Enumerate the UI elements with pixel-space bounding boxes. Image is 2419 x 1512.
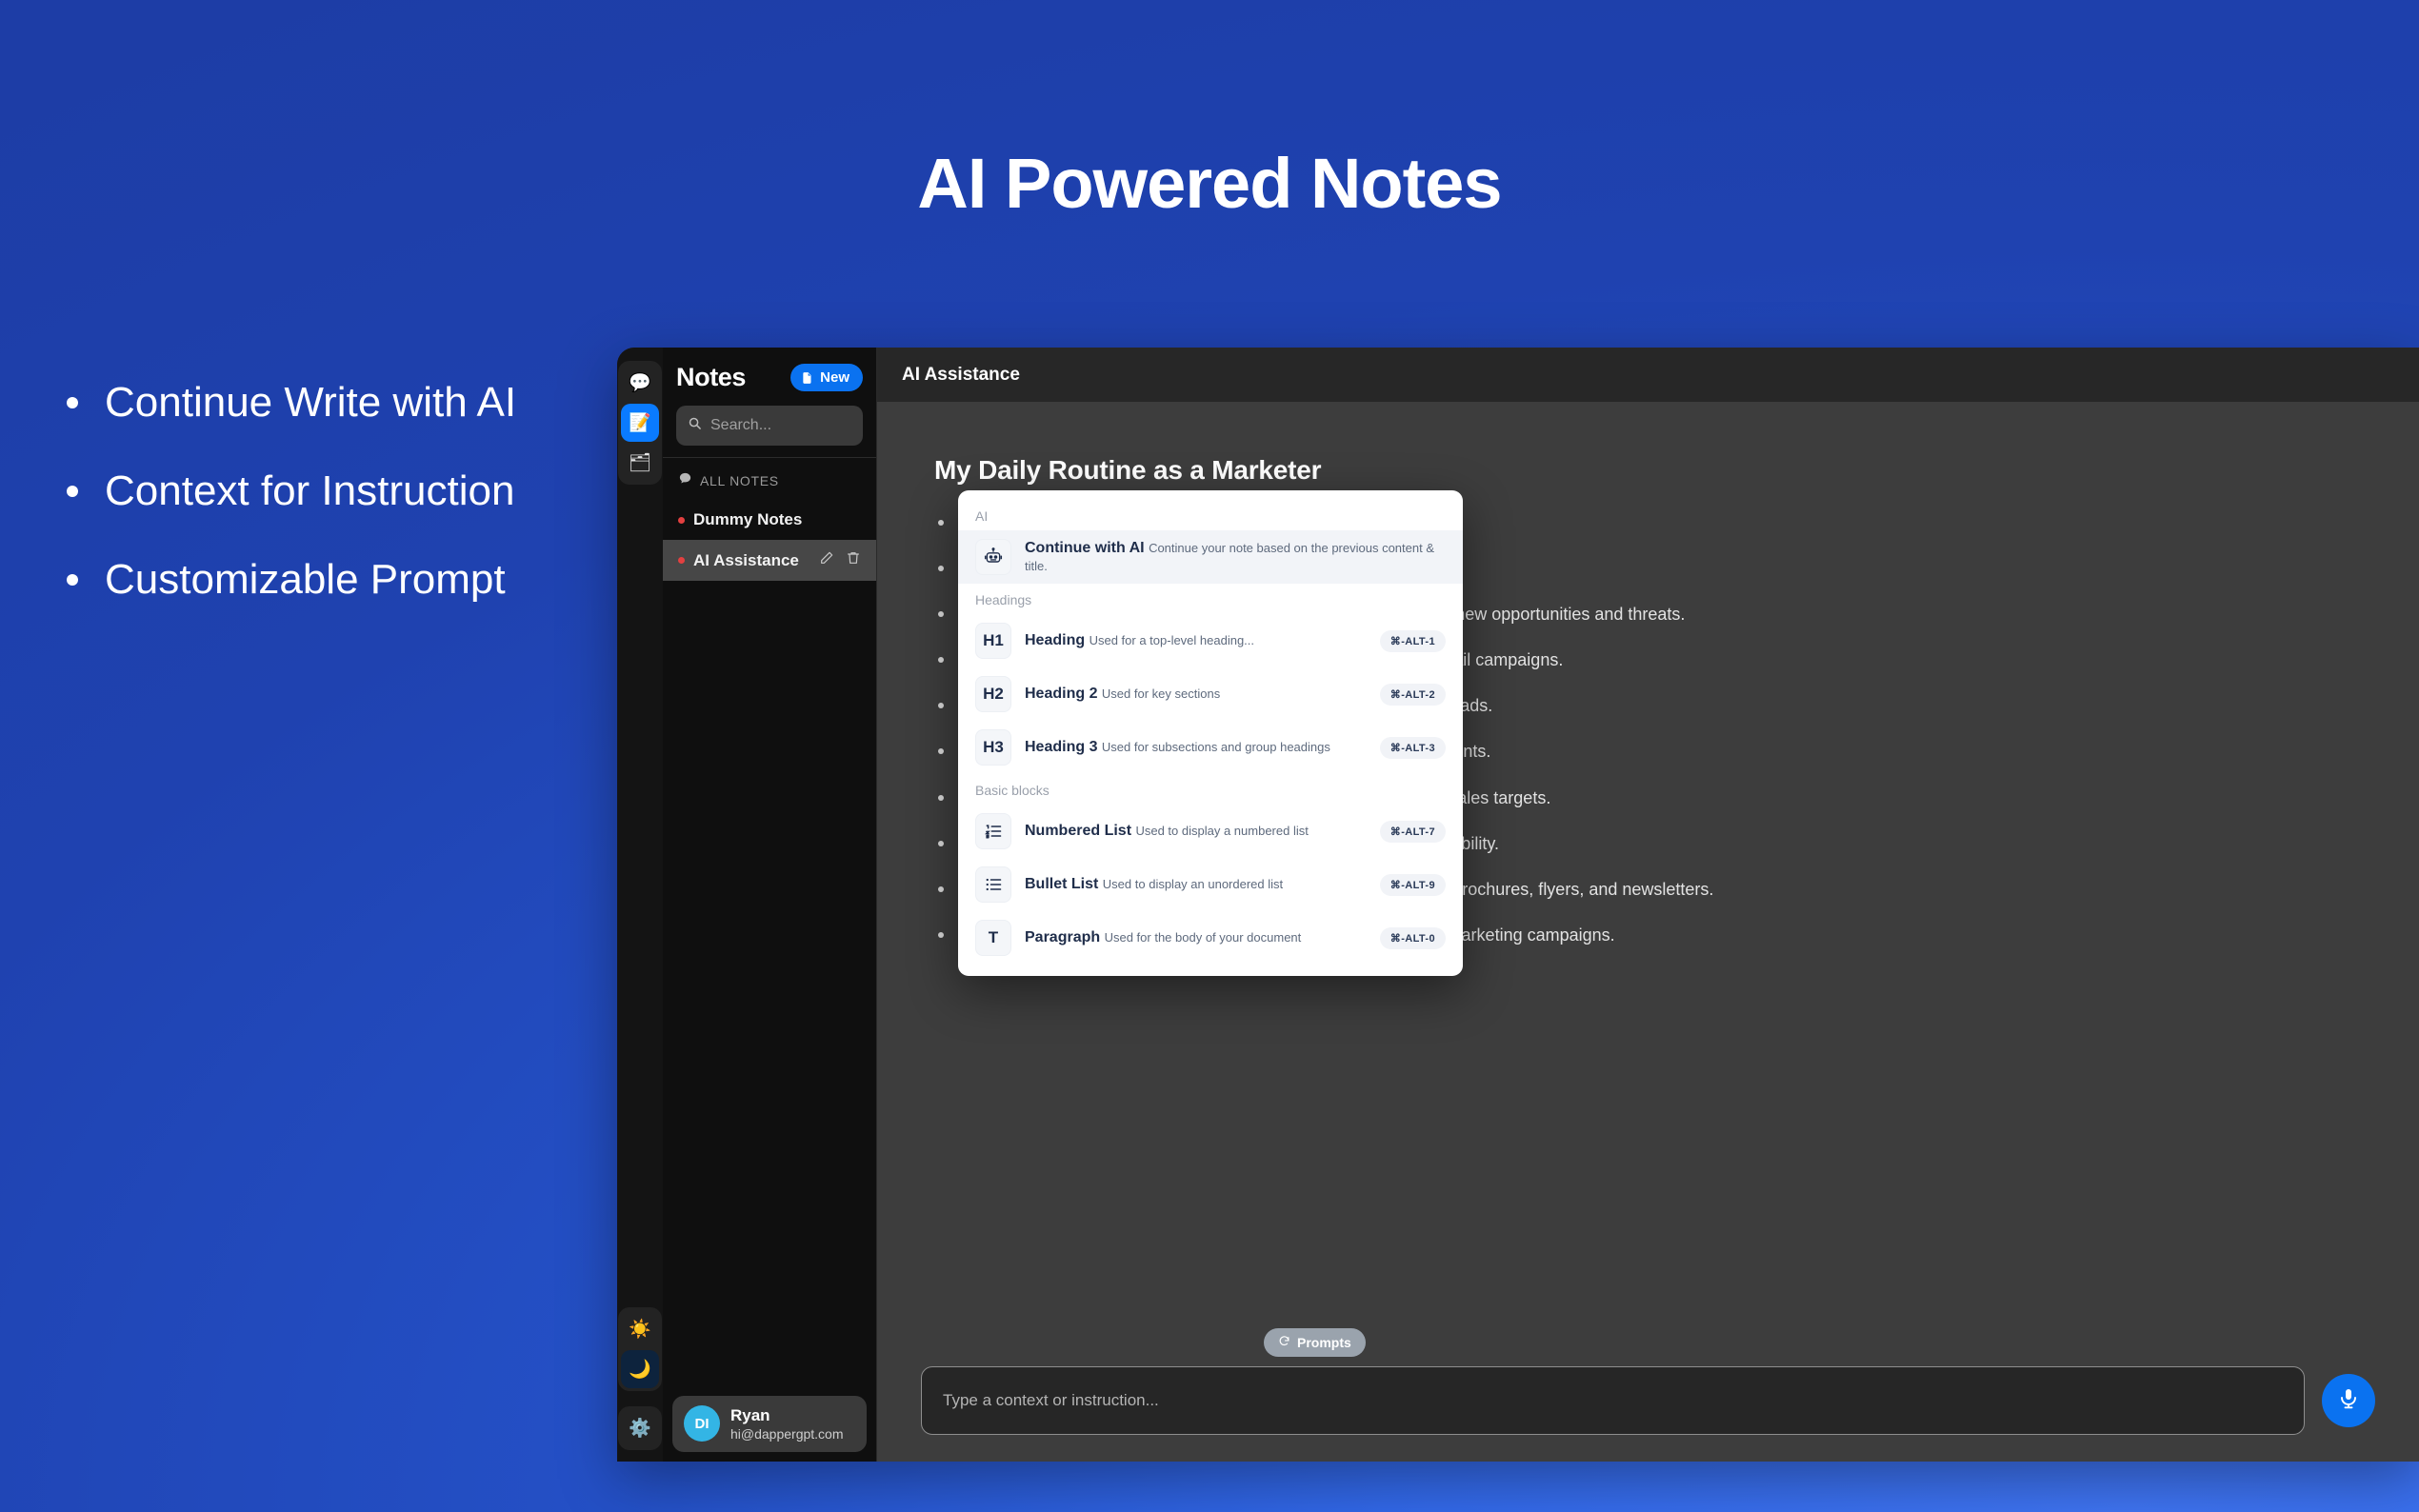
chat-icon[interactable]: 💬 [621, 364, 659, 402]
menu-item-text: Numbered List Used to display a numbered… [1025, 822, 1367, 841]
search-input[interactable] [710, 417, 851, 434]
menu-item-title: Heading 3 [1025, 739, 1097, 755]
menu-item-description: Used to display an unordered list [1103, 877, 1283, 891]
menu-item-text: Heading 2 Used for key sections [1025, 685, 1367, 704]
prompt-row [921, 1366, 2375, 1435]
menu-item-title: Bullet List [1025, 876, 1098, 892]
editor-body[interactable]: My Daily Routine as a Marketer Analyzing… [877, 402, 2419, 1328]
feature-item: Continue Write with AI [50, 371, 583, 435]
microphone-icon [2337, 1387, 2360, 1415]
new-note-button[interactable]: New [790, 364, 863, 391]
notes-panel-title: Notes [676, 363, 746, 392]
prompts-label: Prompts [1297, 1335, 1351, 1350]
note-title: AI Assistance [693, 551, 810, 570]
note-title: Dummy Notes [693, 510, 861, 529]
dark-theme-icon[interactable]: 🌙 [621, 1350, 659, 1388]
settings-icon[interactable]: ⚙️ [621, 1409, 659, 1447]
menu-item-shortcut: ⌘-ALT-2 [1380, 684, 1446, 706]
menu-section-label-basic-blocks: Basic blocks [958, 774, 1463, 805]
note-list-item-dummy-notes[interactable]: Dummy Notes [663, 500, 876, 540]
notes-header-row: Notes New [676, 363, 863, 392]
editor-header-title: AI Assistance [902, 365, 1020, 386]
menu-item-description: Used for key sections [1102, 686, 1220, 701]
edit-icon[interactable] [819, 550, 834, 570]
numbered-list-icon [975, 813, 1011, 849]
search-icon [688, 416, 702, 435]
new-note-label: New [820, 369, 850, 386]
note-status-dot [678, 557, 685, 564]
feature-item: Customizable Prompt [50, 548, 583, 612]
feature-item: Context for Instruction [50, 460, 583, 524]
menu-item-title: Continue with AI [1025, 540, 1145, 556]
menu-item-heading-1[interactable]: H1 Heading Used for a top-level heading.… [958, 614, 1463, 667]
refresh-icon [1278, 1335, 1290, 1350]
search-box[interactable] [676, 406, 863, 446]
editor-pane: AI Assistance My Daily Routine as a Mark… [877, 348, 2419, 1462]
menu-item-text: Continue with AI Continue your note base… [1025, 539, 1446, 575]
user-card-container: DI Ryan hi@dappergpt.com [663, 1386, 876, 1462]
menu-item-shortcut: ⌘-ALT-1 [1380, 630, 1446, 652]
menu-item-description: Used to display a numbered list [1135, 824, 1308, 838]
rail-group-theme: ☀️ 🌙 [618, 1307, 662, 1391]
heading-3-icon: H3 [975, 729, 1011, 766]
heading-2-icon: H2 [975, 676, 1011, 712]
menu-item-title: Paragraph [1025, 929, 1100, 945]
notes-list: ALL NOTES Dummy Notes AI Assistance [663, 457, 876, 1386]
heading-1-icon: H1 [975, 623, 1011, 659]
rail-group-top: 💬 📝 🗂 [618, 361, 662, 485]
note-status-dot [678, 517, 685, 524]
editor-header: AI Assistance [877, 348, 2419, 402]
prompt-area: Prompts [877, 1328, 2419, 1462]
bullet-list-icon [975, 866, 1011, 903]
notes-panel-header: Notes New [663, 348, 876, 457]
all-notes-label: ALL NOTES [700, 473, 779, 488]
delete-icon[interactable] [846, 550, 861, 570]
menu-item-paragraph[interactable]: T Paragraph Used for the body of your do… [958, 911, 1463, 965]
prompts-button[interactable]: Prompts [1264, 1328, 1366, 1357]
user-card[interactable]: DI Ryan hi@dappergpt.com [672, 1396, 867, 1452]
menu-item-bullet-list[interactable]: Bullet List Used to display an unordered… [958, 858, 1463, 911]
menu-item-title: Heading 2 [1025, 686, 1097, 702]
menu-item-heading-3[interactable]: H3 Heading 3 Used for subsections and gr… [958, 721, 1463, 774]
menu-section-label-headings: Headings [958, 584, 1463, 614]
menu-item-title: Numbered List [1025, 823, 1131, 839]
menu-item-shortcut: ⌘-ALT-7 [1380, 821, 1446, 843]
new-note-file-icon [801, 371, 814, 385]
menu-item-shortcut: ⌘-ALT-3 [1380, 737, 1446, 759]
feature-bullet-list: Continue Write with AI Context for Instr… [50, 371, 583, 637]
menu-item-shortcut: ⌘-ALT-0 [1380, 927, 1446, 949]
menu-item-continue-with-ai[interactable]: Continue with AI Continue your note base… [958, 530, 1463, 584]
avatar: DI [684, 1405, 720, 1442]
all-notes-section[interactable]: ALL NOTES [663, 468, 876, 500]
notes-icon[interactable]: 📝 [621, 404, 659, 442]
prompt-input[interactable] [921, 1366, 2305, 1435]
menu-item-description: Used for subsections and group headings [1102, 740, 1330, 754]
menu-item-heading-2[interactable]: H2 Heading 2 Used for key sections ⌘-ALT… [958, 667, 1463, 721]
icon-rail: 💬 📝 🗂 ☀️ 🌙 ⚙️ [617, 348, 663, 1462]
robot-icon [975, 539, 1011, 575]
cards-icon[interactable]: 🗂 [621, 444, 659, 482]
menu-item-text: Heading 3 Used for subsections and group… [1025, 738, 1367, 757]
light-theme-icon[interactable]: ☀️ [621, 1310, 659, 1348]
menu-item-description: Used for the body of your document [1105, 930, 1302, 945]
user-info: Ryan hi@dappergpt.com [730, 1405, 844, 1442]
menu-item-title: Heading [1025, 632, 1085, 648]
document-title[interactable]: My Daily Routine as a Marketer [934, 455, 2381, 486]
all-notes-icon [678, 471, 692, 490]
menu-item-text: Heading Used for a top-level heading... [1025, 631, 1367, 650]
rail-group-settings: ⚙️ [618, 1406, 662, 1450]
microphone-button[interactable] [2322, 1374, 2375, 1427]
notes-panel: Notes New [663, 348, 877, 1462]
menu-item-text: Paragraph Used for the body of your docu… [1025, 928, 1367, 947]
menu-item-shortcut: ⌘-ALT-9 [1380, 874, 1446, 896]
page-title: AI Powered Notes [0, 143, 2419, 224]
note-row-actions [819, 550, 861, 570]
menu-item-text: Bullet List Used to display an unordered… [1025, 875, 1367, 894]
paragraph-icon: T [975, 920, 1011, 956]
menu-item-description: Used for a top-level heading... [1090, 633, 1254, 647]
menu-item-numbered-list[interactable]: Numbered List Used to display a numbered… [958, 805, 1463, 858]
user-name: Ryan [730, 1405, 844, 1425]
slash-command-menu[interactable]: AI Continue with AI Continue you [958, 490, 1463, 976]
note-list-item-ai-assistance[interactable]: AI Assistance [663, 540, 876, 581]
menu-section-label-ai: AI [958, 500, 1463, 530]
app-window: 💬 📝 🗂 ☀️ 🌙 ⚙️ Notes [617, 348, 2419, 1462]
user-email: hi@dappergpt.com [730, 1425, 844, 1442]
